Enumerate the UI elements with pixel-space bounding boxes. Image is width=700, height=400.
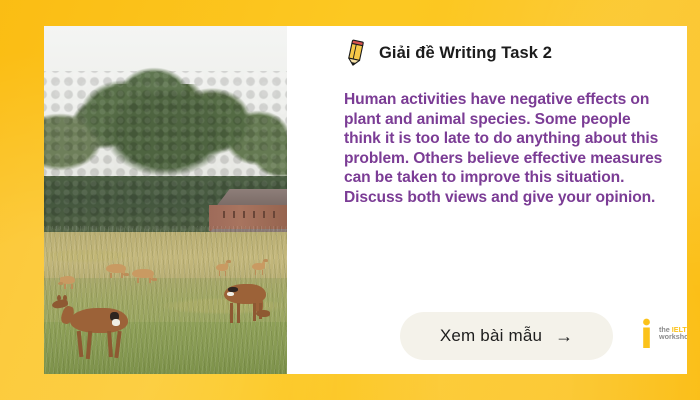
cta-label: Xem bài mẫu xyxy=(440,326,542,346)
view-sample-button[interactable]: Xem bài mẫu → xyxy=(400,312,613,360)
deer xyxy=(106,264,128,278)
deer-photo xyxy=(44,26,287,374)
banner: Giải đề Writing Task 2 Human activities … xyxy=(0,0,700,400)
pencil-icon xyxy=(344,38,368,68)
arrow-right-icon: → xyxy=(555,327,573,345)
deer xyxy=(224,284,270,324)
writing-prompt-text: Human activities have negative effects o… xyxy=(344,90,664,207)
deer xyxy=(132,269,156,283)
header-row: Giải đề Writing Task 2 xyxy=(344,38,552,68)
barn-window xyxy=(263,211,265,218)
logo-workshop-text: workshop xyxy=(659,333,687,340)
content-card: Giải đề Writing Task 2 Human activities … xyxy=(44,26,687,374)
barn-window xyxy=(273,211,275,218)
deer xyxy=(60,276,76,288)
barn-window xyxy=(223,211,225,218)
deer xyxy=(252,263,267,275)
header-title: Giải đề Writing Task 2 xyxy=(379,44,552,63)
barn-window xyxy=(253,211,255,218)
barn-window xyxy=(233,211,235,218)
logo-wordmark: the IELTS workshop xyxy=(659,326,687,341)
i-logo-icon xyxy=(639,318,654,348)
content-column: Giải đề Writing Task 2 Human activities … xyxy=(287,26,687,374)
barn-window xyxy=(243,211,245,218)
deer xyxy=(216,264,230,276)
deer xyxy=(58,308,132,360)
barn-upper-roof xyxy=(205,189,287,206)
brand-logo[interactable]: the IELTS workshop xyxy=(639,318,687,348)
